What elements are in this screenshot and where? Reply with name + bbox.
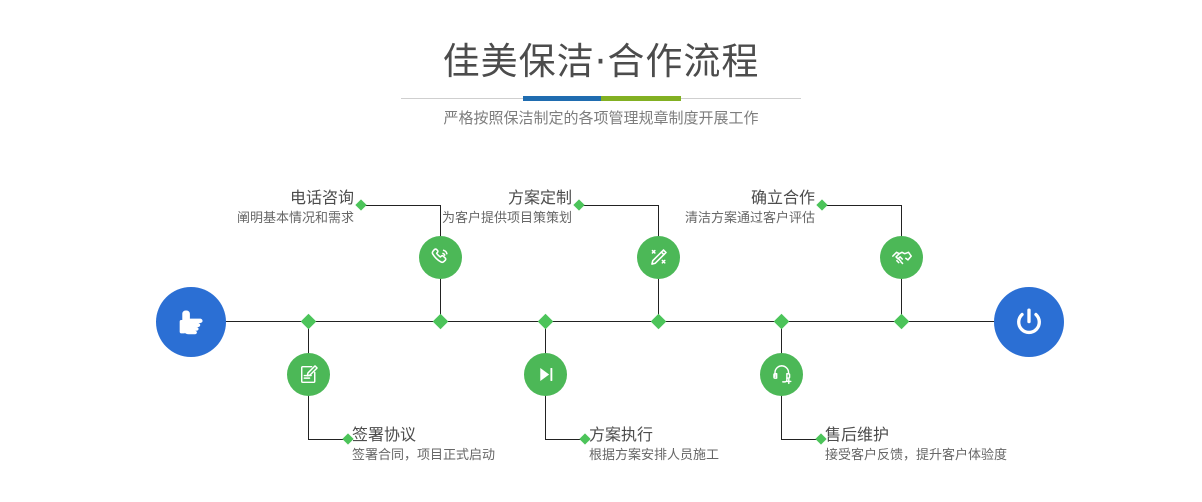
step-4-label: 方案执行 根据方案安排人员施工 (589, 424, 829, 466)
step-1-title: 电话咨询 (150, 187, 354, 209)
page-title: 佳美保洁·合作流程 (0, 38, 1202, 86)
step-3-title: 方案定制 (360, 187, 572, 209)
handshake-icon (889, 245, 915, 271)
customer-service-icon (769, 362, 794, 387)
power-button-icon (1010, 303, 1048, 341)
process-flow-infographic: 佳美保洁·合作流程 严格按照保洁制定的各项管理规章制度开展工作 (0, 0, 1202, 502)
step-2-connector-horizontal (308, 439, 346, 440)
step-3-label: 方案定制 为客户提供项目策策划 (360, 187, 572, 229)
step-5-icon-node[interactable] (880, 236, 923, 279)
step-2-timeline-diamond (301, 314, 317, 330)
step-6-label: 售后维护 接受客户反馈，提升客户体验度 (825, 424, 1085, 466)
flow-start-node[interactable] (156, 287, 226, 357)
page-subtitle: 严格按照保洁制定的各项管理规章制度开展工作 (0, 106, 1202, 130)
step-3-icon-node[interactable] (637, 236, 680, 279)
step-3-connector-marker (573, 199, 584, 210)
step-5-connector-marker (816, 199, 827, 210)
step-1-desc: 阐明基本情况和需求 (150, 209, 354, 229)
divider-green-segment (601, 96, 681, 101)
step-1-icon-node[interactable] (419, 236, 462, 279)
step-6-connector-horizontal (781, 439, 819, 440)
title-divider (401, 96, 801, 101)
step-4-timeline-diamond (538, 314, 554, 330)
step-4-title: 方案执行 (589, 424, 829, 446)
step-6-icon-node[interactable] (760, 353, 803, 396)
flow-end-node[interactable] (994, 287, 1064, 357)
step-3-timeline-diamond (651, 314, 667, 330)
pencil-edit-icon (646, 245, 671, 270)
play-execute-icon (533, 362, 558, 387)
step-6-desc: 接受客户反馈，提升客户体验度 (825, 446, 1085, 466)
step-1-timeline-diamond (433, 314, 449, 330)
document-sign-icon (296, 362, 321, 387)
timeline-axis (156, 321, 1046, 322)
phone-call-icon (428, 245, 453, 270)
header: 佳美保洁·合作流程 严格按照保洁制定的各项管理规章制度开展工作 (0, 0, 1202, 150)
step-5-timeline-diamond (894, 314, 910, 330)
step-6-title: 售后维护 (825, 424, 1085, 446)
divider-blue-segment (523, 96, 601, 101)
step-4-desc: 根据方案安排人员施工 (589, 446, 829, 466)
step-2-label: 签署协议 签署合同，项目正式启动 (352, 424, 592, 466)
step-2-icon-node[interactable] (287, 353, 330, 396)
step-4-connector-horizontal (545, 439, 583, 440)
step-2-title: 签署协议 (352, 424, 592, 446)
step-2-desc: 签署合同，项目正式启动 (352, 446, 592, 466)
step-1-label: 电话咨询 阐明基本情况和需求 (150, 187, 354, 229)
step-5-connector-horizontal (822, 205, 902, 206)
step-5-label: 确立合作 清洁方案通过客户评估 (600, 187, 815, 229)
step-3-desc: 为客户提供项目策策划 (360, 209, 572, 229)
step-6-timeline-diamond (774, 314, 790, 330)
flow-diagram: 电话咨询 阐明基本情况和需求 方案定制 (0, 150, 1202, 502)
step-5-title: 确立合作 (600, 187, 815, 209)
pointing-hand-icon (172, 303, 210, 341)
step-4-icon-node[interactable] (524, 353, 567, 396)
step-5-desc: 清洁方案通过客户评估 (600, 209, 815, 229)
